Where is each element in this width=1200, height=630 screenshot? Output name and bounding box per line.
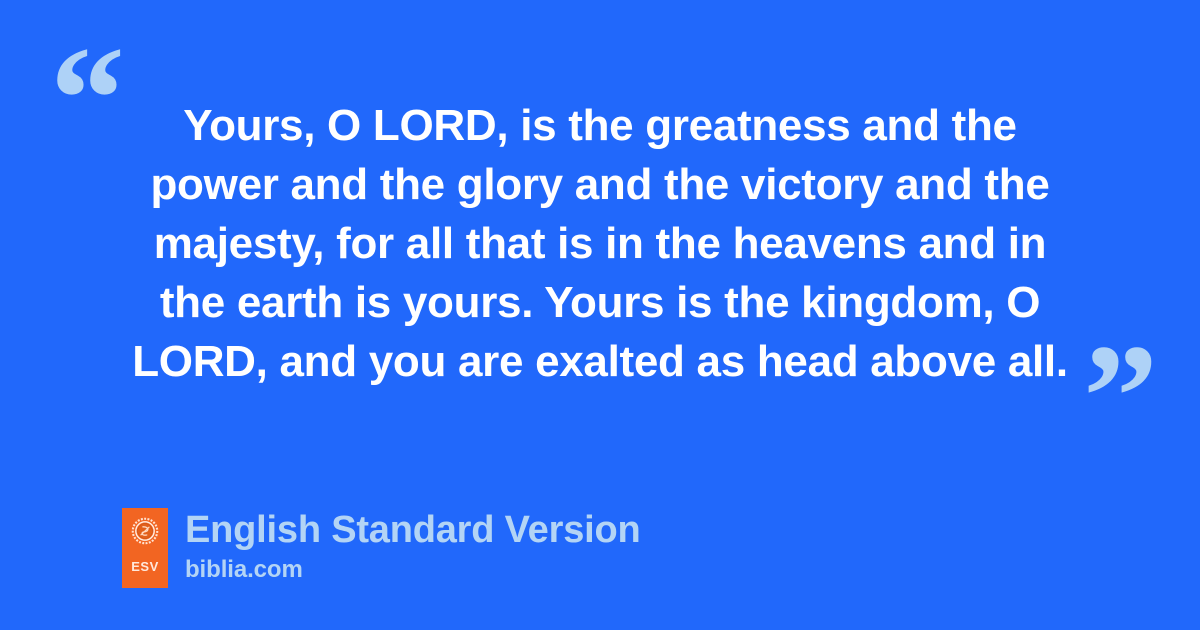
- quote-line: majesty, for all that is in the heavens …: [100, 214, 1100, 273]
- esv-logo-abbr: ESV: [131, 559, 159, 574]
- close-quote-icon: ”: [1083, 322, 1156, 472]
- quote-text-block: Yours, O LORD, is the greatness and the …: [100, 96, 1100, 391]
- esv-seal-icon: [131, 517, 159, 545]
- branding-text-group: English Standard Version biblia.com: [185, 508, 641, 585]
- quote-line: LORD, and you are exalted as head above …: [100, 332, 1100, 391]
- quote-line: the earth is yours. Yours is the kingdom…: [100, 273, 1100, 332]
- esv-logo-badge[interactable]: ESV: [122, 508, 168, 588]
- site-url-link[interactable]: biblia.com: [185, 555, 641, 585]
- bible-verse-quote-card: “ Yours, O LORD, is the greatness and th…: [0, 0, 1200, 630]
- bible-version-title: English Standard Version: [185, 508, 641, 552]
- quote-line: Yours, O LORD, is the greatness and the: [100, 96, 1100, 155]
- branding-footer[interactable]: ESV English Standard Version biblia.com: [122, 508, 641, 588]
- quote-line: power and the glory and the victory and …: [100, 155, 1100, 214]
